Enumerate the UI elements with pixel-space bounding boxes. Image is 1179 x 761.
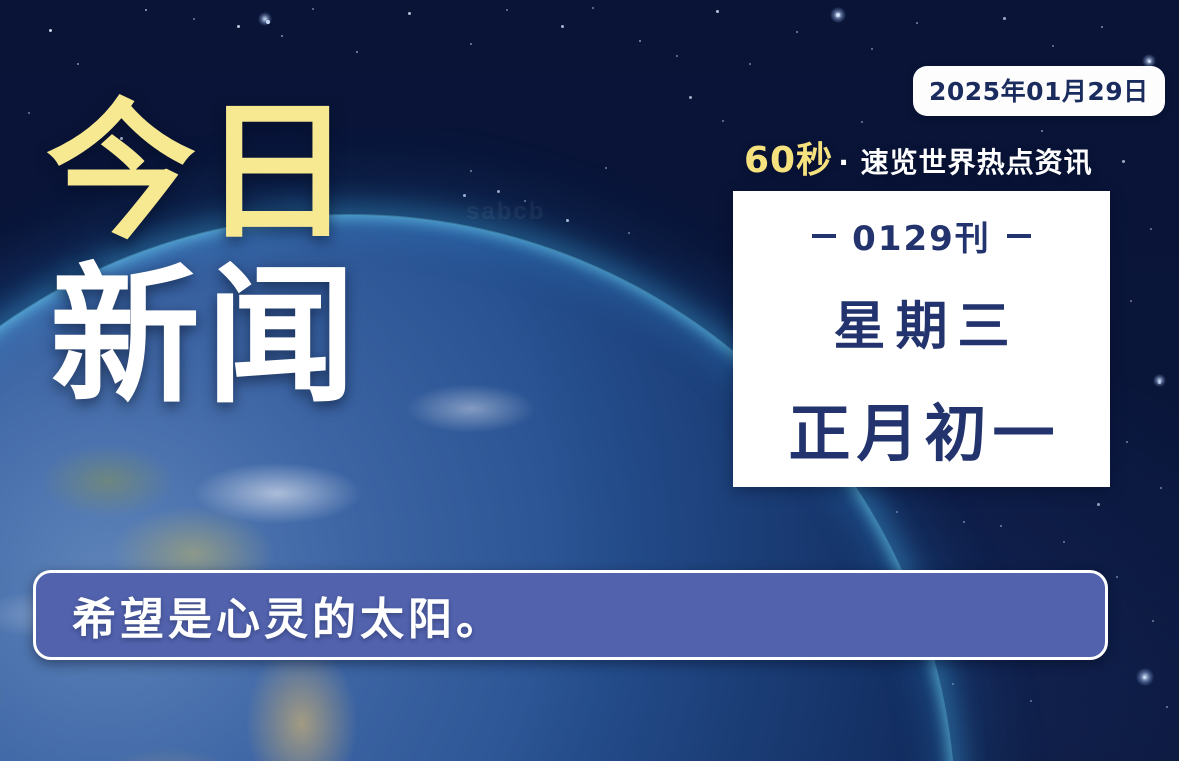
tagline: 60秒 · 速览世界热点资讯 bbox=[744, 143, 1093, 179]
weekday-label: 星期三 bbox=[823, 284, 1019, 359]
title-line-2: 新闻 bbox=[50, 262, 362, 412]
dash-left-icon bbox=[812, 234, 836, 238]
issue-number: 0129刊 bbox=[852, 211, 991, 260]
date-badge: 2025年01月29日 bbox=[913, 66, 1165, 116]
news-poster: sabcb 今日 新闻 2025年01月29日 60秒 · 速览世界热点资讯 0… bbox=[0, 0, 1179, 761]
quote-text: 希望是心灵的太阳。 bbox=[72, 583, 504, 647]
dash-right-icon bbox=[1007, 234, 1031, 238]
lunar-date-label: 正月初一 bbox=[782, 383, 1060, 473]
poster-title: 今日 新闻 bbox=[46, 98, 362, 412]
issue-number-row: 0129刊 bbox=[812, 211, 1031, 260]
title-line-1: 今日 bbox=[46, 98, 362, 248]
tagline-rest: · 速览世界热点资讯 bbox=[838, 146, 1092, 179]
tagline-highlight: 60秒 bbox=[744, 140, 833, 181]
quote-bar: 希望是心灵的太阳。 bbox=[33, 570, 1108, 660]
issue-card: 0129刊 星期三 正月初一 bbox=[733, 191, 1110, 487]
watermark-text: sabcb bbox=[466, 198, 545, 226]
